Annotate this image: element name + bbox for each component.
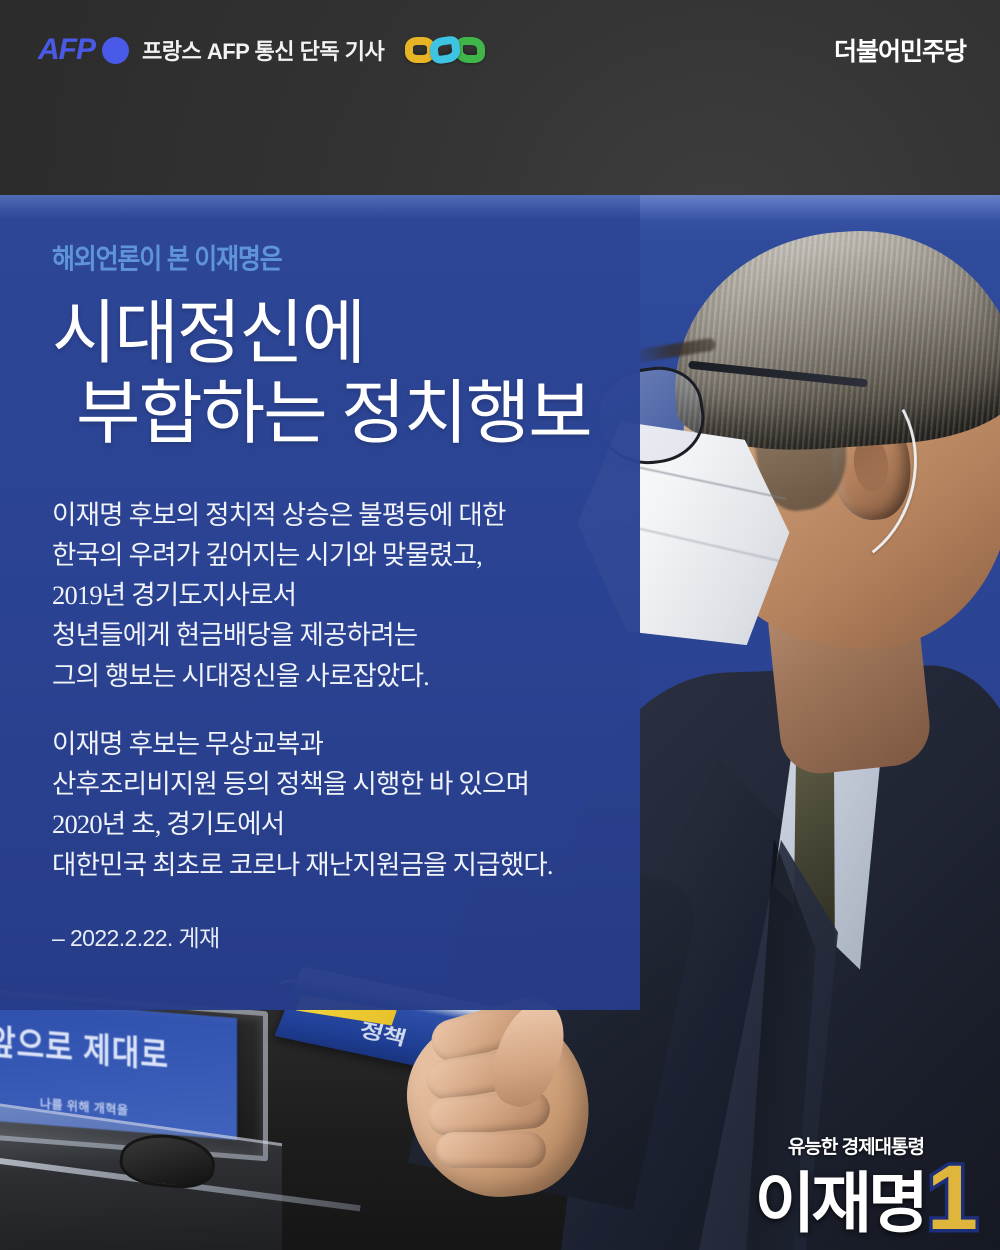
publication-credit: – 2022.2.22. 게재 bbox=[52, 919, 640, 953]
campaign-candidate-name: 이재명 bbox=[755, 1174, 925, 1232]
headline-line-1: 시대정신에 bbox=[52, 295, 640, 375]
body-p1-line-3: 2019년 경기도지사로서 bbox=[52, 575, 640, 615]
cyan-ring-icon bbox=[429, 35, 462, 65]
card-news-poster: 앞으로 제대로 나를 위해 개혁을 bbox=[0, 0, 1000, 1250]
body-paragraph-1: 이재명 후보의 정치적 상승은 불평등에 대한 한국의 우려가 깊어지는 시기와… bbox=[52, 495, 640, 696]
body-p2-line-2: 산후조리비지원 등의 정책을 시행한 바 있으며 bbox=[52, 764, 640, 804]
header-left-group: AFP 프랑스 AFP 통신 단독 기사 bbox=[38, 34, 485, 66]
booklet-label: 정책 bbox=[357, 1015, 410, 1051]
finger-little bbox=[436, 1132, 546, 1168]
campaign-logo: 유능한 경제대통령 이재명 1 bbox=[755, 1132, 976, 1232]
body-p1-line-5: 그의 행보는 시대정신을 사로잡았다. bbox=[52, 656, 640, 696]
afp-blue-dot-icon bbox=[102, 37, 129, 64]
afp-logo: AFP bbox=[38, 35, 129, 65]
body-p1-line-2: 한국의 우려가 깊어지는 시기와 맞물렸고, bbox=[52, 535, 640, 575]
campaign-ballot-number: 1 bbox=[927, 1161, 976, 1236]
body-p2-line-1: 이재명 후보는 무상교복과 bbox=[52, 724, 640, 764]
podium: 앞으로 제대로 나를 위해 개혁을 bbox=[0, 1000, 282, 1250]
header-bar: AFP 프랑스 AFP 통신 단독 기사 더불어민주당 bbox=[0, 0, 1000, 100]
headline: 시대정신에 부합하는 정치행보 bbox=[52, 295, 640, 455]
body-paragraph-2: 이재명 후보는 무상교복과 산후조리비지원 등의 정책을 시행한 바 있으며 2… bbox=[52, 724, 640, 885]
campaign-slogan: 유능한 경제대통령 bbox=[755, 1132, 924, 1159]
eyebrow-label: 해외언론이 본 이재명은 bbox=[52, 237, 640, 277]
body-p1-line-1: 이재명 후보의 정치적 상승은 불평등에 대한 bbox=[52, 495, 640, 535]
body-p2-line-3: 2020년 초, 경기도에서 bbox=[52, 804, 640, 844]
afp-wordmark: AFP bbox=[38, 35, 95, 65]
party-name: 더불어민주당 bbox=[834, 32, 966, 68]
headline-line-2: 부합하는 정치행보 bbox=[52, 375, 640, 455]
body-p2-line-4: 대한민국 최초로 코로나 재난지원금을 지급했다. bbox=[52, 845, 640, 885]
body-p1-line-4: 청년들에게 현금배당을 제공하려는 bbox=[52, 615, 640, 655]
campaign-name-row: 이재명 1 bbox=[755, 1161, 976, 1232]
ring-icon-group bbox=[405, 37, 485, 63]
header-caption: 프랑스 AFP 통신 단독 기사 bbox=[142, 34, 384, 66]
text-panel: 해외언론이 본 이재명은 시대정신에 부합하는 정치행보 이재명 후보의 정치적… bbox=[0, 195, 640, 1010]
